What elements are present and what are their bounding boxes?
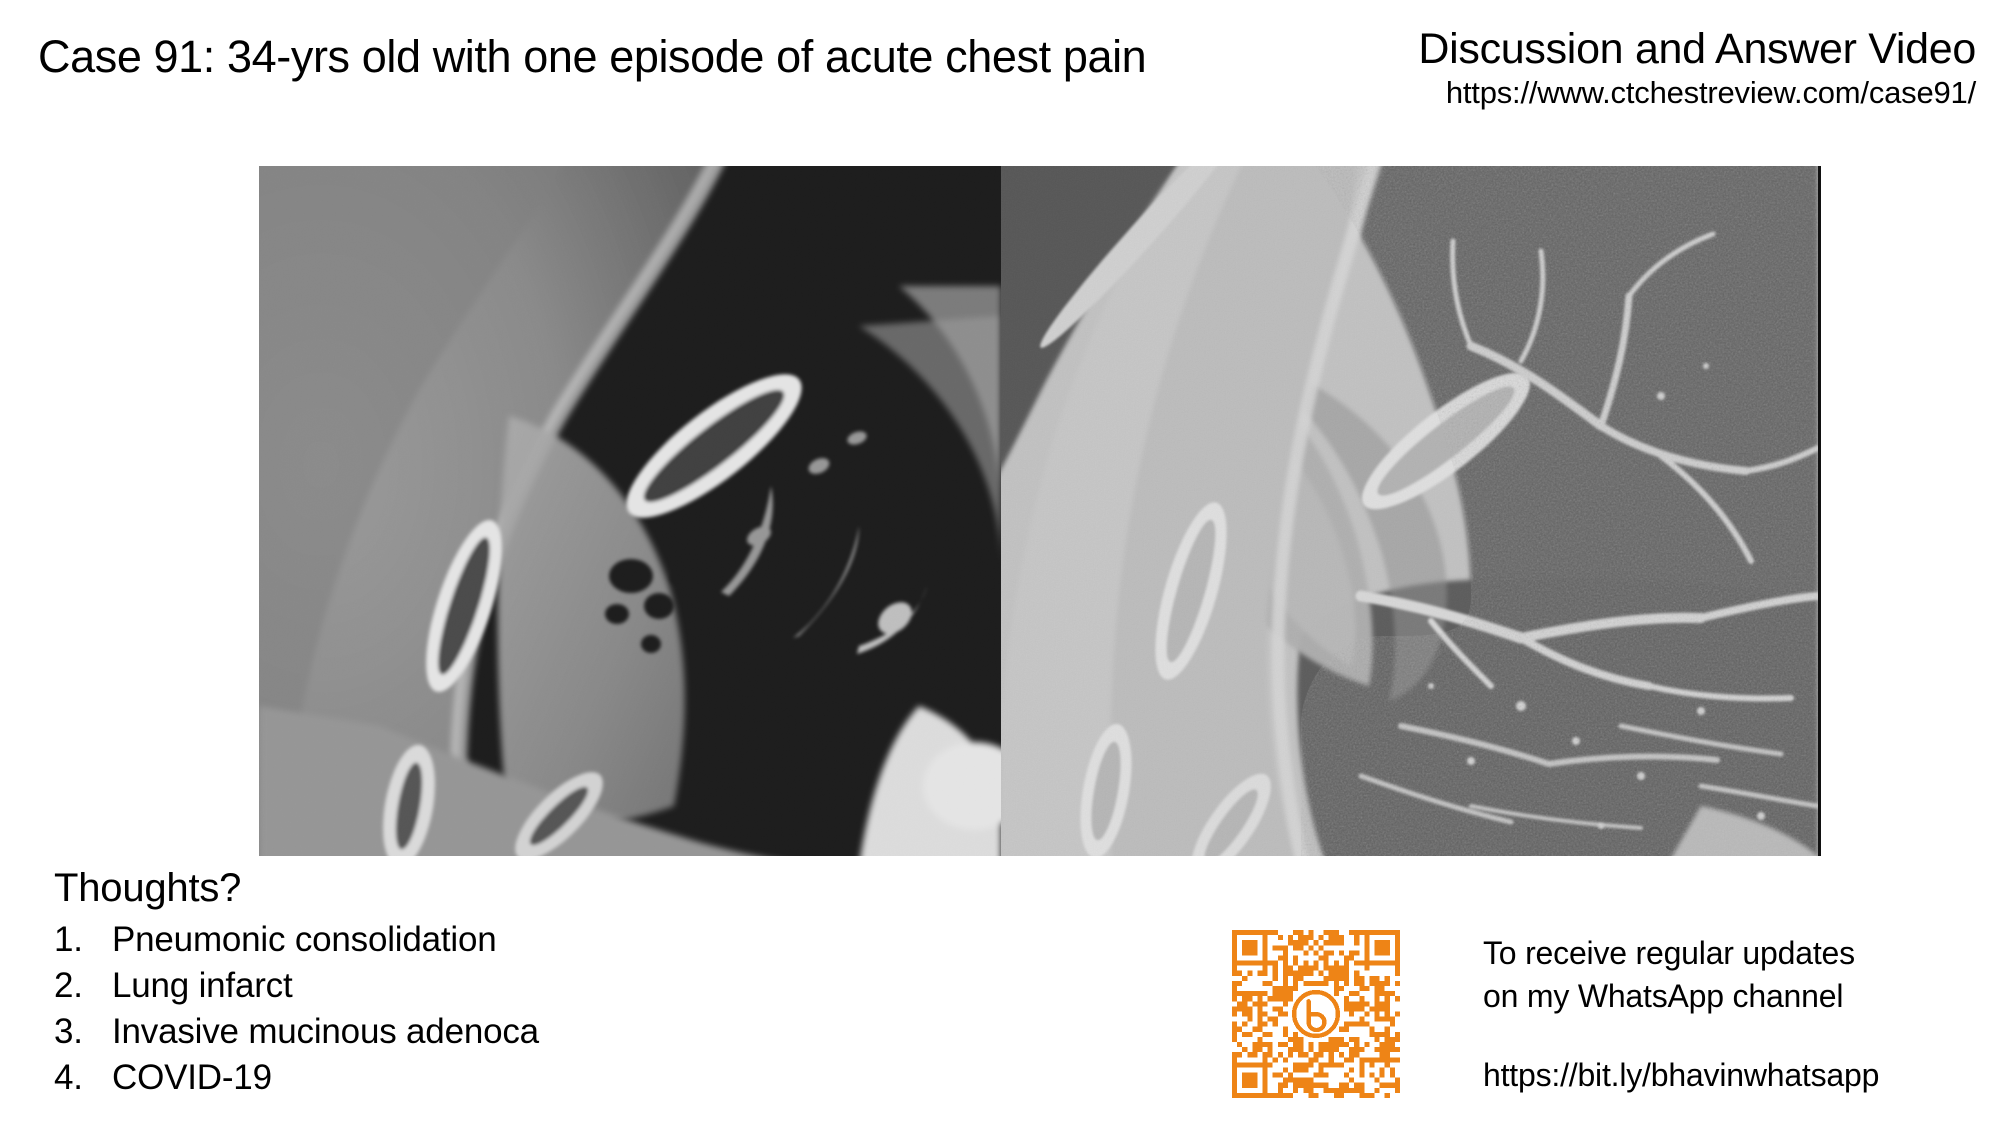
answer-option-number: 1. bbox=[54, 917, 112, 963]
answer-option[interactable]: 2. Lung infarct bbox=[54, 963, 539, 1009]
qr-code-icon[interactable] bbox=[1232, 930, 1400, 1098]
answer-option-number: 2. bbox=[54, 963, 112, 1009]
answer-option[interactable]: 4. COVID-19 bbox=[54, 1055, 539, 1101]
ct-soft-tissue-window-image bbox=[259, 166, 1001, 856]
answer-options-list: 1. Pneumonic consolidation 2. Lung infar… bbox=[54, 917, 539, 1102]
discussion-video-label: Discussion and Answer Video bbox=[1418, 26, 1976, 72]
answer-option-label: COVID-19 bbox=[112, 1055, 272, 1101]
page-title: Case 91: 34-yrs old with one episode of … bbox=[38, 33, 1146, 80]
answer-option[interactable]: 3. Invasive mucinous adenoca bbox=[54, 1009, 539, 1055]
answer-option-label: Pneumonic consolidation bbox=[112, 917, 497, 963]
answer-option-number: 3. bbox=[54, 1009, 112, 1055]
answer-option-label: Invasive mucinous adenoca bbox=[112, 1009, 539, 1055]
answer-option-number: 4. bbox=[54, 1055, 112, 1101]
whatsapp-promo-block: To receive regular updates on my WhatsAp… bbox=[1483, 932, 1879, 1094]
thoughts-heading: Thoughts? bbox=[54, 866, 539, 911]
answer-option-label: Lung infarct bbox=[112, 963, 293, 1009]
whatsapp-promo-line-2: on my WhatsApp channel bbox=[1483, 975, 1879, 1018]
qr-code-matrix bbox=[1232, 930, 1400, 1098]
discussion-video-block: Discussion and Answer Video https://www.… bbox=[1418, 26, 1976, 110]
discussion-video-url[interactable]: https://www.ctchestreview.com/case91/ bbox=[1418, 76, 1976, 109]
ct-figure bbox=[259, 166, 1821, 856]
whatsapp-url[interactable]: https://bit.ly/bhavinwhatsapp bbox=[1483, 1057, 1879, 1094]
ct-lung-window-panel bbox=[1001, 166, 1818, 856]
whatsapp-promo-line-1: To receive regular updates bbox=[1483, 932, 1879, 975]
ct-soft-tissue-window-panel bbox=[259, 166, 1001, 856]
answer-option[interactable]: 1. Pneumonic consolidation bbox=[54, 917, 539, 963]
thoughts-block: Thoughts? 1. Pneumonic consolidation 2. … bbox=[54, 866, 539, 1102]
qr-center-logo bbox=[1293, 991, 1340, 1038]
ct-lung-window-image bbox=[1001, 166, 1818, 856]
